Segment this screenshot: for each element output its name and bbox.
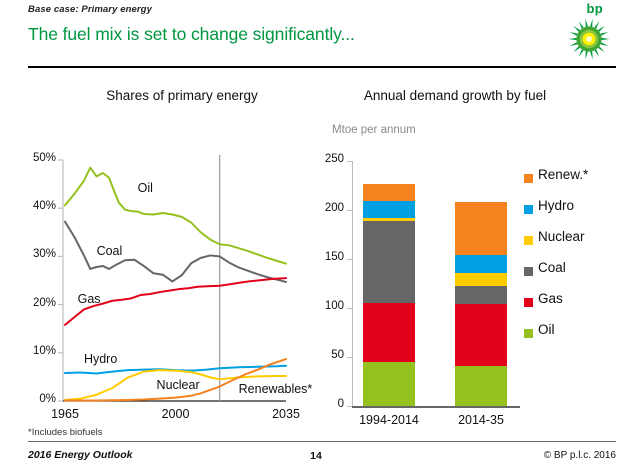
stacked-bar[interactable]: [363, 161, 415, 406]
bar-segment-hydro[interactable]: [363, 201, 415, 218]
legend-swatch-nuclear: [524, 236, 533, 245]
copyright: © BP p.l.c. 2016: [544, 450, 616, 461]
left-chart-title: Shares of primary energy: [62, 88, 302, 103]
shares-ytick: 40%: [14, 200, 56, 212]
bar-segment-gas[interactable]: [363, 303, 415, 362]
legend-swatch-gas: [524, 298, 533, 307]
legend-swatch-renew: [524, 174, 533, 183]
growth-yaxis-line: [352, 161, 353, 406]
slide: Base case: Primary energy The fuel mix i…: [0, 0, 632, 473]
legend-label-renew: Renew.*: [538, 167, 588, 182]
bar-segment-gas[interactable]: [455, 304, 507, 366]
growth-ytick: 250: [300, 153, 344, 165]
growth-ytick-mark: [347, 357, 352, 358]
growth-ytick-mark: [347, 308, 352, 309]
growth-ytick: 0: [300, 398, 344, 410]
series-label-gas: Gas: [78, 292, 101, 306]
bar-segment-hydro[interactable]: [455, 255, 507, 273]
growth-ytick-mark: [347, 210, 352, 211]
growth-ytick: 50: [300, 349, 344, 361]
bp-helios-icon: [568, 18, 610, 60]
growth-ytick: 150: [300, 251, 344, 263]
bar-segment-oil[interactable]: [363, 362, 415, 406]
shares-ytick: 50%: [14, 152, 56, 164]
footer-divider: [28, 441, 616, 442]
growth-ytick: 200: [300, 202, 344, 214]
growth-ytick-mark: [347, 406, 352, 407]
legend-label-hydro: Hydro: [538, 198, 574, 213]
bp-wordmark: bp: [587, 1, 603, 16]
page-title: The fuel mix is set to change significan…: [28, 24, 355, 45]
page-number: 14: [0, 450, 632, 462]
legend-swatch-coal: [524, 267, 533, 276]
series-label-hydro: Hydro: [84, 352, 117, 366]
shares-ytick: 10%: [14, 345, 56, 357]
right-chart-unit-label: Mtoe per annum: [332, 124, 416, 136]
series-label-renewables: Renewables*: [239, 382, 313, 396]
bar-segment-renew[interactable]: [363, 184, 415, 202]
series-label-oil: Oil: [138, 181, 153, 195]
legend-label-coal: Coal: [538, 260, 566, 275]
shares-ytick: 0%: [14, 393, 56, 405]
legend-label-oil: Oil: [538, 322, 555, 337]
footnote: *Includes biofuels: [28, 427, 102, 438]
right-chart-title: Annual demand growth by fuel: [332, 88, 578, 103]
legend-swatch-oil: [524, 329, 533, 338]
series-label-coal: Coal: [97, 244, 123, 258]
shares-xtick: 1965: [33, 407, 97, 421]
bar-segment-nuclear[interactable]: [363, 218, 415, 221]
header-divider: [28, 66, 616, 68]
eyebrow-text: Base case: Primary energy: [28, 4, 152, 15]
growth-ytick: 100: [300, 300, 344, 312]
bp-logo: bp: [560, 2, 616, 64]
growth-ytick-mark: [347, 161, 352, 162]
growth-xtick: 2014-35: [436, 413, 526, 427]
bar-segment-nuclear[interactable]: [455, 273, 507, 287]
growth-ytick-mark: [347, 259, 352, 260]
bar-segment-coal[interactable]: [455, 286, 507, 304]
bar-segment-oil[interactable]: [455, 366, 507, 406]
growth-xtick: 1994-2014: [344, 413, 434, 427]
shares-ytick: 30%: [14, 248, 56, 260]
stacked-bar[interactable]: [455, 161, 507, 406]
legend-label-gas: Gas: [538, 291, 563, 306]
growth-baseline: [352, 406, 520, 408]
shares-xtick: 2000: [144, 407, 208, 421]
series-label-nuclear: Nuclear: [157, 378, 200, 392]
legend-swatch-hydro: [524, 205, 533, 214]
legend-label-nuclear: Nuclear: [538, 229, 585, 244]
bar-segment-renew[interactable]: [455, 202, 507, 255]
shares-ytick: 20%: [14, 297, 56, 309]
bar-segment-coal[interactable]: [363, 221, 415, 303]
